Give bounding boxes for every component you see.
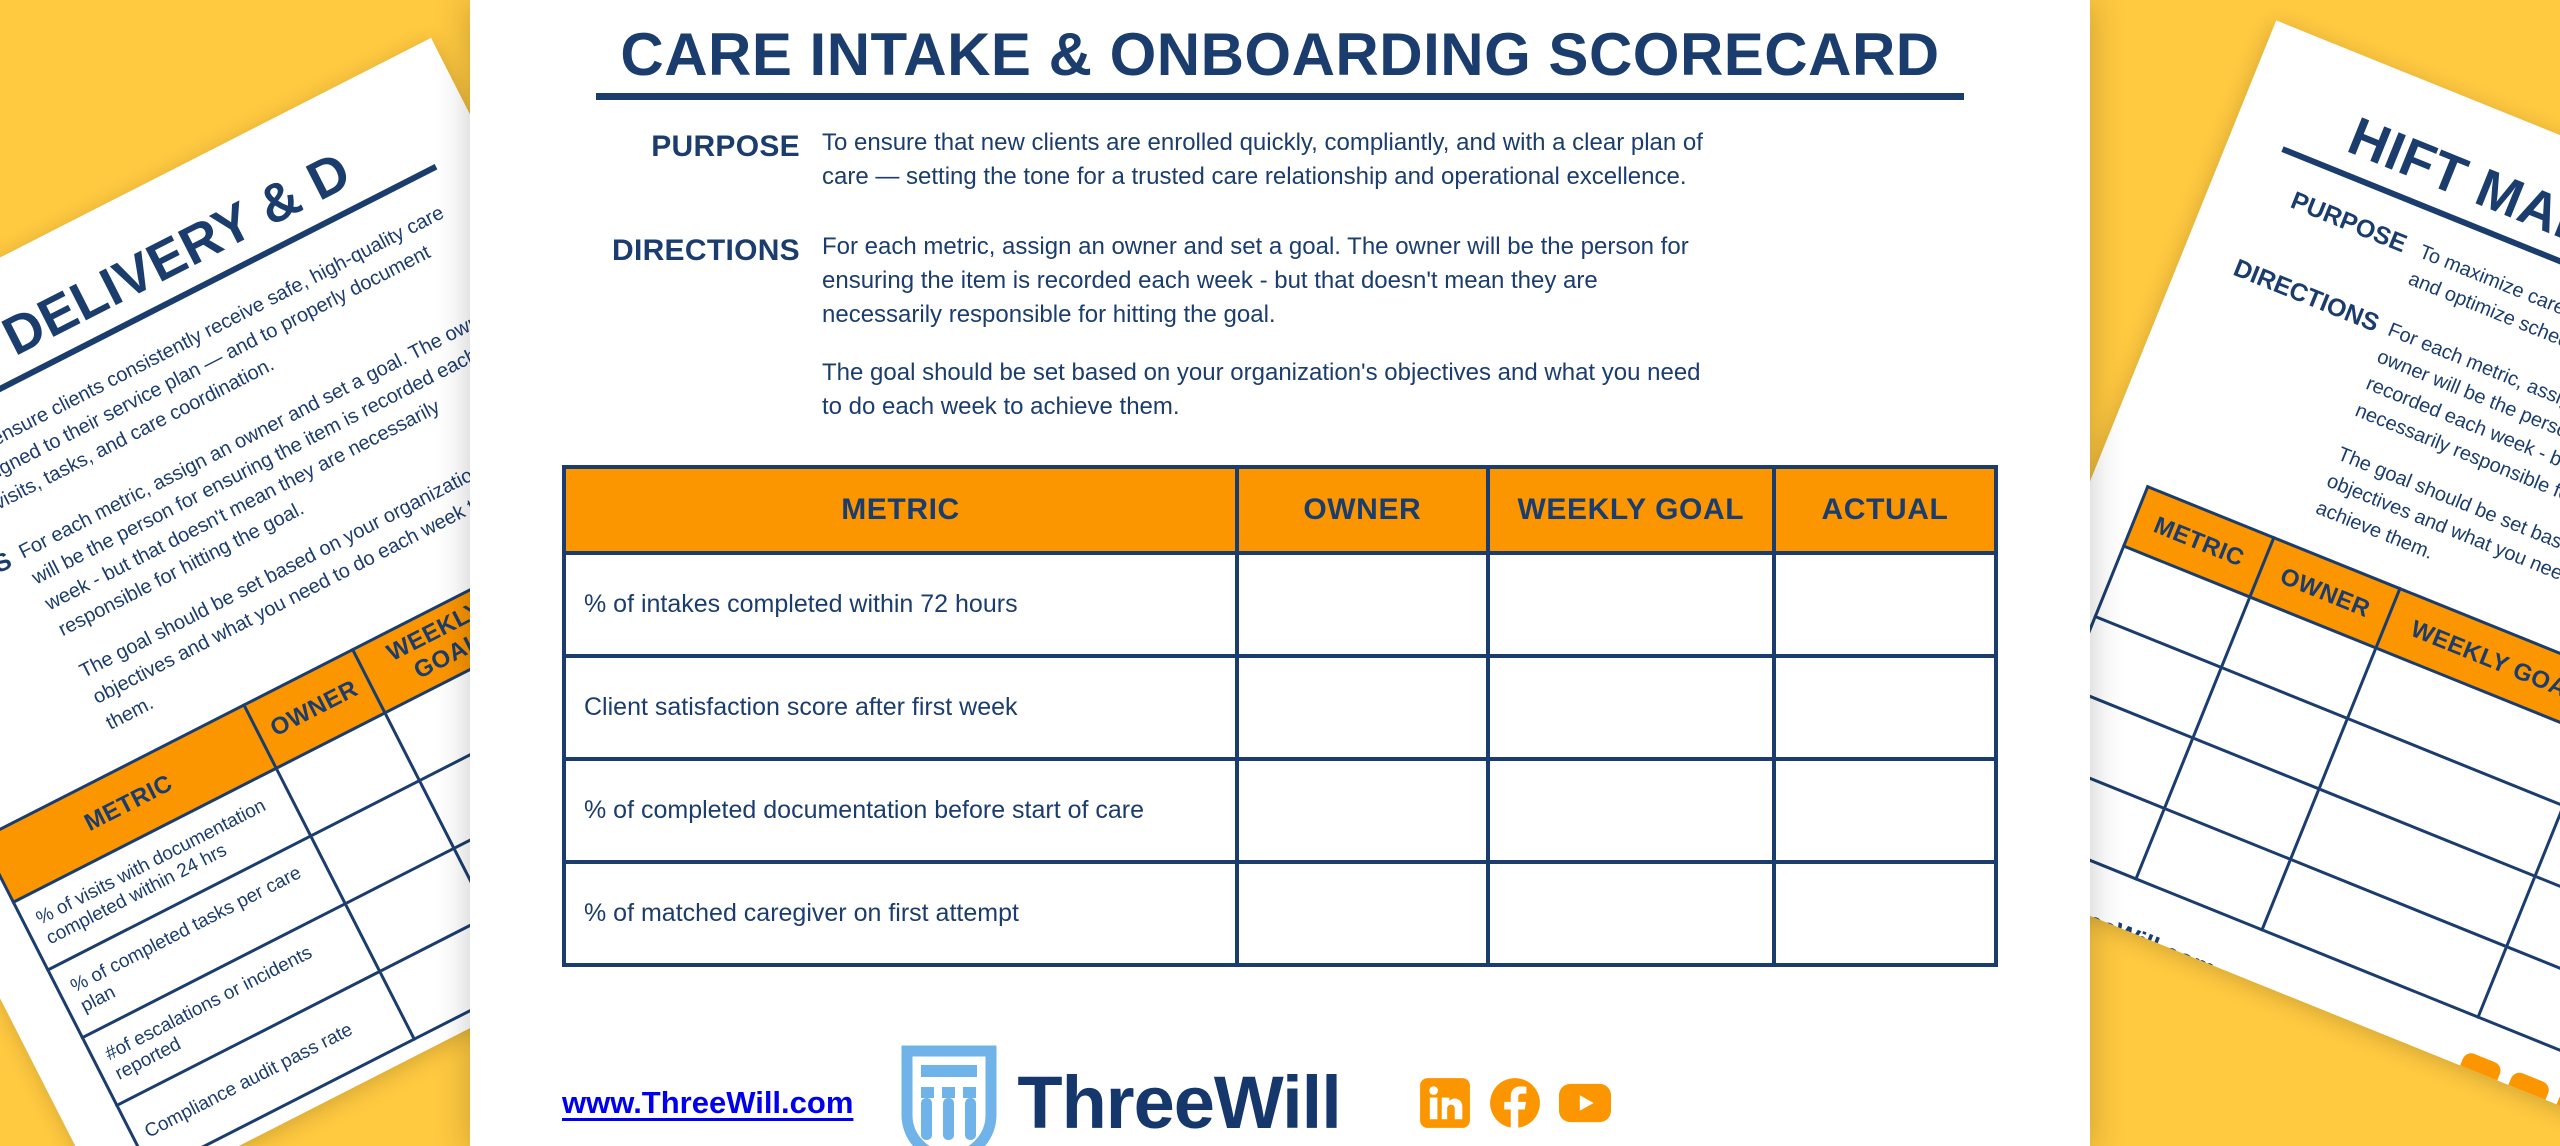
weekly-goal-cell[interactable]: [1488, 656, 1774, 759]
social-links: [1419, 1077, 1611, 1129]
website-link[interactable]: www.ThreeWill.com: [562, 1085, 853, 1121]
actual-cell[interactable]: [1774, 862, 1996, 965]
column-header-weekly-goal: WEEKLY GOAL: [1488, 467, 1774, 553]
owner-cell[interactable]: [1237, 862, 1488, 965]
purpose-text: To ensure that new clients are enrolled …: [822, 126, 1722, 194]
owner-cell[interactable]: [1237, 553, 1488, 656]
metric-cell: Client satisfaction score after first we…: [564, 656, 1237, 759]
page-title: CARE INTAKE & ONBOARDING SCORECARD: [596, 10, 1964, 100]
scorecard-document: CARE INTAKE & ONBOARDING SCORECARD PURPO…: [470, 0, 2090, 1146]
facebook-icon: [1489, 1077, 1541, 1129]
table-row: Client satisfaction score after first we…: [564, 656, 1996, 759]
youtube-icon: [1559, 1077, 1611, 1129]
facebook-icon: [2499, 1070, 2551, 1122]
actual-cell[interactable]: [1774, 759, 1996, 862]
purpose-section: PURPOSE To ensure that new clients are e…: [562, 126, 1998, 194]
directions-text: For each metric, assign an owner and set…: [822, 230, 1722, 424]
actual-cell[interactable]: [1774, 553, 1996, 656]
owner-cell[interactable]: [1237, 759, 1488, 862]
youtube-link[interactable]: [1559, 1077, 1611, 1129]
table-row: % of intakes completed within 72 hours: [564, 553, 1996, 656]
owner-cell[interactable]: [1237, 656, 1488, 759]
actual-cell[interactable]: [1774, 656, 1996, 759]
column-header-owner: OWNER: [1237, 467, 1488, 553]
metric-cell: % of matched caregiver on first attempt: [564, 862, 1237, 965]
scorecard-table: METRIC OWNER WEEKLY GOAL ACTUAL % of int…: [562, 465, 1998, 967]
table-row: % of completed documentation before star…: [564, 759, 1996, 862]
column-header-actual: ACTUAL: [1774, 467, 1996, 553]
directions-paragraph-2: The goal should be set based on your org…: [822, 356, 1722, 424]
youtube-icon: [2548, 1090, 2560, 1140]
weekly-goal-cell[interactable]: [1488, 553, 1774, 656]
directions-label: DIRECTIONS: [562, 230, 822, 424]
brand-name: ThreeWill: [1017, 1060, 1340, 1145]
threewill-logo: ThreeWill: [897, 1045, 1340, 1146]
document-footer: www.ThreeWill.com ThreeWill: [562, 1045, 1998, 1146]
table-row: % of matched caregiver on first attempt: [564, 862, 1996, 965]
metric-cell: % of completed documentation before star…: [564, 759, 1237, 862]
purpose-label: PURPOSE: [562, 126, 822, 194]
table-header-row: METRIC OWNER WEEKLY GOAL ACTUAL: [564, 467, 1996, 553]
directions-paragraph-1: For each metric, assign an owner and set…: [822, 230, 1722, 332]
facebook-link[interactable]: [1489, 1077, 1541, 1129]
weekly-goal-cell[interactable]: [1488, 759, 1774, 862]
linkedin-icon: [2451, 1051, 2503, 1103]
bg-right-socials: [2451, 1051, 2560, 1140]
weekly-goal-cell[interactable]: [1488, 862, 1774, 965]
linkedin-link[interactable]: [1419, 1077, 1471, 1129]
directions-section: DIRECTIONS For each metric, assign an ow…: [562, 230, 1998, 424]
column-header-metric: METRIC: [564, 467, 1237, 553]
linkedin-icon: [1419, 1077, 1471, 1129]
threewill-shield-icon: [897, 1045, 1001, 1146]
metric-cell: % of intakes completed within 72 hours: [564, 553, 1237, 656]
